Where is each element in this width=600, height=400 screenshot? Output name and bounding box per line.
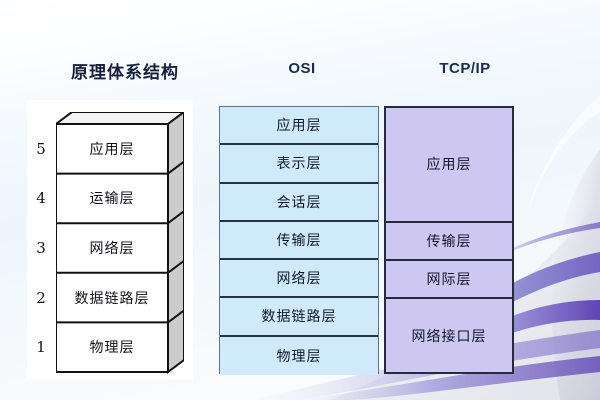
layer-number: 2 [28, 273, 54, 323]
slide-canvas: 原理体系结构 OSI TCP/IP 5 4 3 2 1 应用 [0, 0, 600, 400]
osi-layer-row: 网络层 [220, 260, 378, 298]
osi-layer-row: 应用层 [220, 107, 378, 145]
column-header-tcpip: TCP/IP [385, 60, 545, 77]
osi-layer-row: 传输层 [220, 222, 378, 260]
tcpip-layer-row: 网络接口层 [386, 299, 512, 372]
layer-number: 1 [28, 322, 54, 372]
tcpip-layer-row: 传输层 [386, 223, 512, 261]
osi-layer-row: 数据链路层 [220, 298, 378, 336]
osi-layer-row: 会话层 [220, 184, 378, 222]
principle-layer-label: 物理层 [56, 322, 168, 372]
osi-layer-row: 表示层 [220, 145, 378, 183]
principle-layer-label: 运输层 [56, 174, 168, 224]
principle-layer-label: 数据链路层 [56, 273, 168, 323]
column-header-osi: OSI [222, 60, 382, 77]
tcpip-layer-row: 网际层 [386, 261, 512, 299]
tcpip-model-table: 应用层 传输层 网际层 网络接口层 [384, 106, 514, 374]
column-header-principle: 原理体系结构 [30, 58, 220, 83]
osi-layer-row: 物理层 [220, 337, 378, 375]
layer-number: 3 [28, 223, 54, 273]
principle-layer-label: 网络层 [56, 223, 168, 273]
osi-model-table: 应用层 表示层 会话层 传输层 网络层 数据链路层 物理层 [219, 106, 379, 374]
principle-layer-numbers: 5 4 3 2 1 [28, 124, 54, 372]
layer-number: 4 [28, 174, 54, 224]
layer-number: 5 [28, 124, 54, 174]
principle-layer-label: 应用层 [56, 124, 168, 174]
tcpip-layer-row: 应用层 [386, 108, 512, 223]
